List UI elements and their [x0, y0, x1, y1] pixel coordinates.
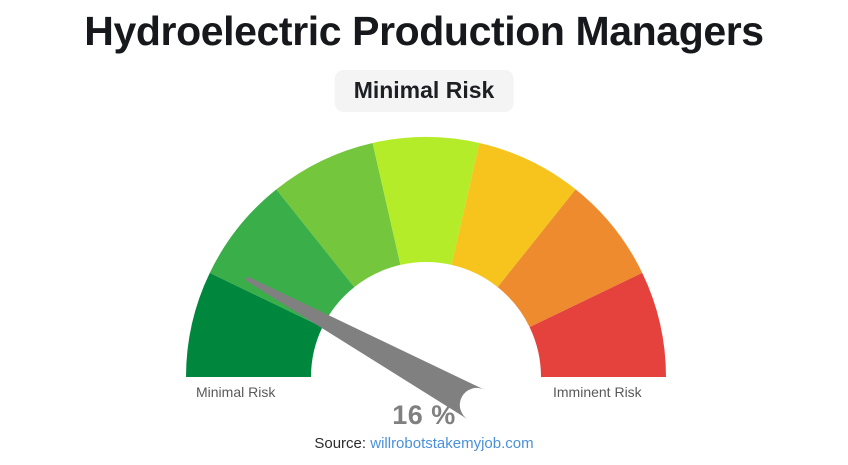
source-note: Source: willrobotstakemyjob.com	[0, 435, 848, 452]
axis-label-max: Imminent Risk	[553, 384, 642, 400]
source-link[interactable]: willrobotstakemyjob.com	[370, 435, 533, 452]
gauge-svg	[0, 0, 848, 465]
source-prefix: Source:	[314, 435, 370, 452]
gauge-value-readout: 16 %	[0, 400, 848, 431]
axis-label-min: Minimal Risk	[196, 384, 275, 400]
gauge-segment-group	[186, 137, 666, 377]
gauge-chart: Minimal Risk Imminent Risk 16 % Source: …	[0, 0, 848, 465]
